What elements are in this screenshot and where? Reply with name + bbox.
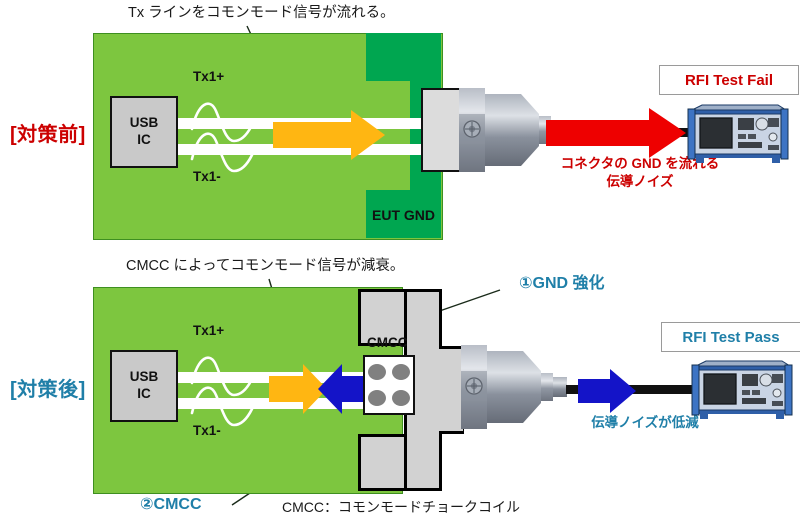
after-stage-label: [対策後] bbox=[10, 380, 86, 400]
before-common-mode-arrow bbox=[273, 110, 391, 162]
before-noise-caption-line2: 伝導ノイズ bbox=[540, 173, 740, 191]
before-caption: Tx ラインをコモンモード信号が流れる。 bbox=[128, 6, 395, 21]
after-usb-ic: USB IC bbox=[110, 350, 178, 422]
before-pin-label-positive: Tx1+ bbox=[193, 70, 224, 84]
after-caption: CMCC によってコモンモード信号が減衰。 bbox=[126, 259, 404, 274]
diagram-root: Tx ラインをコモンモード信号が流れる。 [対策前] USB IC Tx1+ T… bbox=[0, 0, 800, 527]
after-gnd-tab-fill bbox=[437, 350, 463, 431]
after-noise-arrow bbox=[578, 369, 640, 413]
after-pin-label-negative: Tx1- bbox=[193, 424, 221, 438]
before-usb-ic: USB IC bbox=[110, 96, 178, 168]
after-rfi-receiver bbox=[690, 360, 794, 422]
after-cmcc-component bbox=[364, 356, 414, 414]
before-ic-line2: IC bbox=[130, 132, 159, 149]
before-result-box: RFI Test Fail bbox=[659, 65, 799, 95]
after-ic-line1: USB bbox=[130, 369, 159, 386]
after-pin-label-positive: Tx1+ bbox=[193, 324, 224, 338]
annotation-cmcc: ②CMCC bbox=[140, 497, 202, 513]
after-cmcc-label: CMCC bbox=[367, 336, 408, 350]
before-ic-line1: USB bbox=[130, 115, 159, 132]
after-result-box: RFI Test Pass bbox=[661, 322, 800, 352]
before-connector-pad bbox=[421, 88, 461, 172]
before-pin-label-negative: Tx1- bbox=[193, 170, 221, 184]
before-noise-arrow bbox=[546, 108, 689, 158]
before-rfi-receiver bbox=[686, 104, 790, 166]
footnote-cmcc-definition: CMCC：コモンモードチョークコイル bbox=[282, 500, 520, 514]
after-ic-line2: IC bbox=[130, 386, 159, 403]
after-waveform-tx1n bbox=[190, 379, 270, 454]
before-stage-label: [対策前] bbox=[10, 125, 86, 145]
before-eut-gnd-label: EUT GND bbox=[372, 208, 435, 222]
before-waveform-tx1n bbox=[190, 125, 270, 200]
annotation-gnd-reinforce: ①GND 強化 bbox=[519, 276, 605, 292]
